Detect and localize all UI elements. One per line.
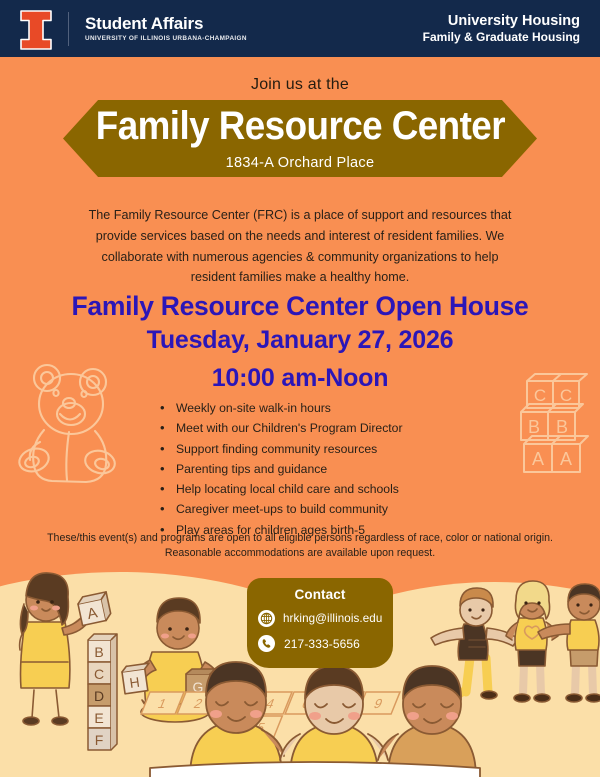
- housing-title: University Housing: [423, 12, 580, 30]
- accessibility-notice: These/this event(s) and programs are ope…: [28, 531, 572, 561]
- contact-email-row[interactable]: hrking@illinois.edu: [247, 610, 393, 627]
- contact-email[interactable]: hrking@illinois.edu: [283, 612, 382, 625]
- event-date: Tuesday, January 27, 2026: [0, 326, 600, 355]
- intro-paragraph: The Family Resource Center (FRC) is a pl…: [82, 205, 518, 288]
- phone-icon: [258, 635, 275, 652]
- svg-text:F: F: [95, 732, 104, 748]
- banner-eyebrow: Join us at the: [0, 76, 600, 94]
- banner-address: 1834-A Orchard Place: [226, 155, 375, 171]
- brand-lockup: Student Affairs UNIVERSITY OF ILLINOIS U…: [85, 15, 247, 43]
- globe-icon: [258, 610, 275, 627]
- housing-subtitle: Family & Graduate Housing: [423, 30, 580, 46]
- svg-text:C: C: [94, 666, 104, 682]
- svg-text:B: B: [556, 417, 568, 437]
- title-banner: Family Resource Center 1834-A Orchard Pl…: [63, 100, 537, 177]
- contact-title: Contact: [247, 587, 393, 602]
- flyer-page: Student Affairs UNIVERSITY OF ILLINOIS U…: [0, 0, 600, 777]
- list-item: Meet with our Children's Program Directo…: [160, 418, 490, 438]
- brand-subtitle: UNIVERSITY OF ILLINOIS URBANA-CHAMPAIGN: [85, 35, 247, 42]
- banner-title: Family Resource Center: [95, 106, 504, 146]
- illinois-block-i-logo: [18, 9, 54, 49]
- site-header: Student Affairs UNIVERSITY OF ILLINOIS U…: [0, 0, 600, 57]
- svg-text:A: A: [560, 449, 572, 469]
- notice-line-1: These/this event(s) and programs are ope…: [28, 531, 572, 546]
- services-list: Weekly on-site walk-in hours Meet with o…: [160, 398, 490, 540]
- list-item: Weekly on-site walk-in hours: [160, 398, 490, 418]
- svg-text:D: D: [94, 688, 104, 704]
- brand-title: Student Affairs: [85, 15, 247, 33]
- svg-text:B: B: [94, 644, 103, 660]
- contact-phone[interactable]: 217-333-5656: [284, 637, 360, 651]
- list-item: Help locating local child care and schoo…: [160, 479, 490, 499]
- list-item: Parenting tips and guidance: [160, 459, 490, 479]
- housing-unit-lockup: University Housing Family & Graduate Hou…: [423, 12, 580, 46]
- svg-text:E: E: [94, 710, 103, 726]
- list-item: Support finding community resources: [160, 439, 490, 459]
- contact-box: Contact hrking@illinois.edu 217-333-5656: [247, 578, 393, 668]
- notice-line-2: Reasonable accommodations are available …: [28, 546, 572, 561]
- list-item: Caregiver meet-ups to build community: [160, 499, 490, 519]
- event-title: Family Resource Center Open House: [0, 291, 600, 322]
- event-time: 10:00 am-Noon: [0, 364, 600, 393]
- svg-text:A: A: [532, 449, 544, 469]
- svg-text:B: B: [528, 417, 540, 437]
- contact-phone-row[interactable]: 217-333-5656: [247, 635, 393, 652]
- header-divider: [68, 12, 69, 46]
